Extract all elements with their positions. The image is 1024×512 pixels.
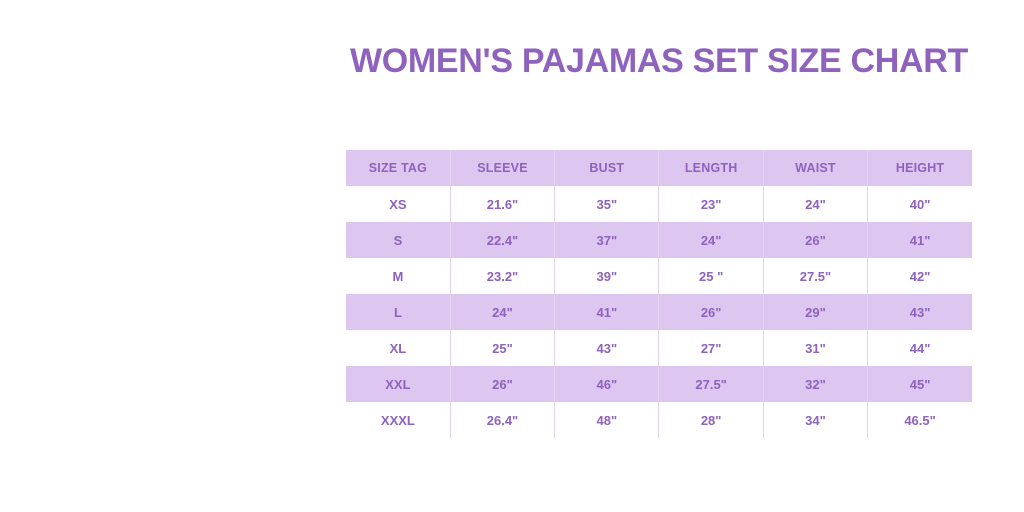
cell-bust: 41": [555, 294, 659, 330]
cell-size-tag: L: [346, 294, 450, 330]
cell-bust: 48": [555, 402, 659, 438]
cell-waist: 34": [763, 402, 867, 438]
cell-bust: 35": [555, 186, 659, 222]
cell-size-tag: XXXL: [346, 402, 450, 438]
cell-size-tag: M: [346, 258, 450, 294]
table-row: L 24" 41" 26" 29" 43": [346, 294, 972, 330]
column-header-height: HEIGHT: [868, 150, 972, 186]
cell-bust: 37": [555, 222, 659, 258]
table-row: XXXL 26.4" 48" 28" 34" 46.5": [346, 402, 972, 438]
table-row: S 22.4" 37" 24" 26" 41": [346, 222, 972, 258]
table-row: XS 21.6" 35" 23" 24" 40": [346, 186, 972, 222]
cell-waist: 32": [763, 366, 867, 402]
cell-waist: 24": [763, 186, 867, 222]
cell-length: 27.5": [659, 366, 763, 402]
column-header-bust: BUST: [555, 150, 659, 186]
column-header-sleeve: SLEEVE: [450, 150, 554, 186]
cell-size-tag: S: [346, 222, 450, 258]
cell-length: 24": [659, 222, 763, 258]
cell-sleeve: 26.4": [450, 402, 554, 438]
cell-height: 45": [868, 366, 972, 402]
cell-sleeve: 21.6": [450, 186, 554, 222]
column-header-size-tag: SIZE TAG: [346, 150, 450, 186]
table-header: SIZE TAG SLEEVE BUST LENGTH WAIST HEIGHT: [346, 150, 972, 186]
cell-sleeve: 26": [450, 366, 554, 402]
cell-length: 23": [659, 186, 763, 222]
cell-size-tag: XXL: [346, 366, 450, 402]
cell-sleeve: 24": [450, 294, 554, 330]
column-header-length: LENGTH: [659, 150, 763, 186]
cell-sleeve: 23.2": [450, 258, 554, 294]
cell-height: 46.5": [868, 402, 972, 438]
table-header-row: SIZE TAG SLEEVE BUST LENGTH WAIST HEIGHT: [346, 150, 972, 186]
cell-waist: 26": [763, 222, 867, 258]
table-body: XS 21.6" 35" 23" 24" 40" S 22.4" 37" 24"…: [346, 186, 972, 438]
cell-length: 26": [659, 294, 763, 330]
table-row: M 23.2" 39" 25 " 27.5" 42": [346, 258, 972, 294]
cell-height: 42": [868, 258, 972, 294]
cell-bust: 39": [555, 258, 659, 294]
cell-sleeve: 22.4": [450, 222, 554, 258]
cell-waist: 31": [763, 330, 867, 366]
cell-waist: 27.5": [763, 258, 867, 294]
cell-length: 25 ": [659, 258, 763, 294]
size-chart-table: SIZE TAG SLEEVE BUST LENGTH WAIST HEIGHT…: [346, 150, 972, 438]
page-title: WOMEN'S PAJAMAS SET SIZE CHART: [346, 42, 972, 81]
cell-size-tag: XL: [346, 330, 450, 366]
cell-length: 28": [659, 402, 763, 438]
size-chart-container: WOMEN'S PAJAMAS SET SIZE CHART SIZE TAG …: [346, 0, 972, 512]
cell-height: 43": [868, 294, 972, 330]
cell-height: 40": [868, 186, 972, 222]
cell-height: 44": [868, 330, 972, 366]
cell-waist: 29": [763, 294, 867, 330]
table-row: XXL 26" 46" 27.5" 32" 45": [346, 366, 972, 402]
cell-sleeve: 25": [450, 330, 554, 366]
table-row: XL 25" 43" 27" 31" 44": [346, 330, 972, 366]
cell-length: 27": [659, 330, 763, 366]
column-header-waist: WAIST: [763, 150, 867, 186]
cell-bust: 43": [555, 330, 659, 366]
cell-height: 41": [868, 222, 972, 258]
cell-size-tag: XS: [346, 186, 450, 222]
cell-bust: 46": [555, 366, 659, 402]
